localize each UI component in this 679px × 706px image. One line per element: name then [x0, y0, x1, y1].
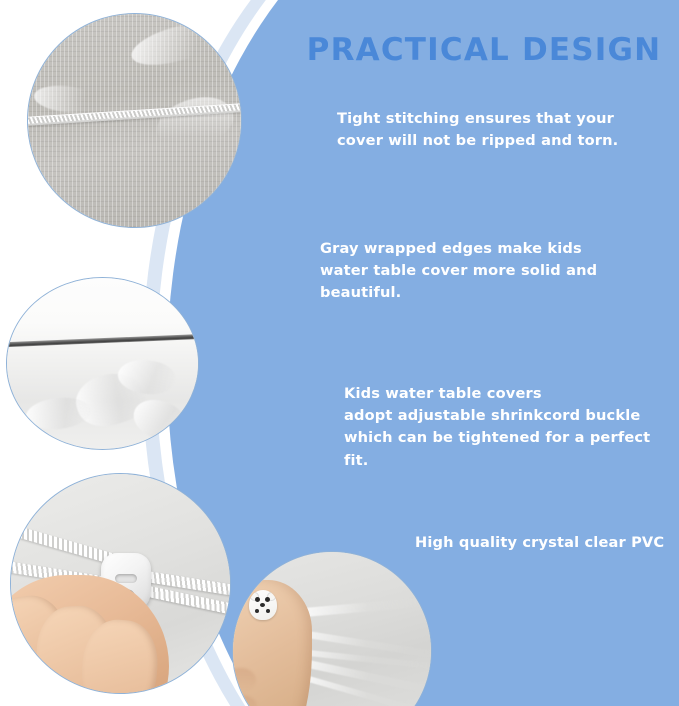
- buckle-slot: [115, 574, 137, 583]
- nail-art-dot: [266, 609, 270, 613]
- photo-buckle-content: [11, 474, 230, 693]
- photo-wrapped-edge-content: [7, 278, 198, 449]
- feature-text-shrinkcord-buckle: Kids water table covers adopt adjustable…: [344, 383, 676, 472]
- knuckle-shadow: [232, 695, 257, 706]
- feature-text-tight-stitching: Tight stitching ensures that your cover …: [337, 108, 667, 152]
- nail-art-dot: [255, 597, 260, 602]
- nail-art-icon: [249, 590, 277, 620]
- photo-clear-pvc-closeup: [232, 551, 432, 706]
- nail-art-dot: [255, 609, 259, 613]
- feature-text-crystal-clear-pvc: High quality crystal clear PVC: [415, 532, 675, 554]
- photo-wrapped-edge-closeup: [6, 277, 199, 450]
- photo-stitching-closeup: [27, 13, 242, 228]
- feature-text-gray-wrapped-edges: Gray wrapped edges make kids water table…: [320, 238, 675, 305]
- thumb: [232, 580, 312, 706]
- product-feature-infographic: PRACTICAL DESIGN Tight stitching ensures…: [0, 0, 679, 706]
- nail-art-dot: [260, 603, 265, 607]
- photo-clear-pvc-content: [233, 552, 431, 706]
- nail-art-dot: [265, 597, 270, 602]
- photo-stitching-content: [28, 14, 241, 227]
- knuckle-shadow: [232, 668, 256, 692]
- photo-shrinkcord-buckle-closeup: [10, 473, 231, 694]
- page-title: PRACTICAL DESIGN: [300, 33, 668, 67]
